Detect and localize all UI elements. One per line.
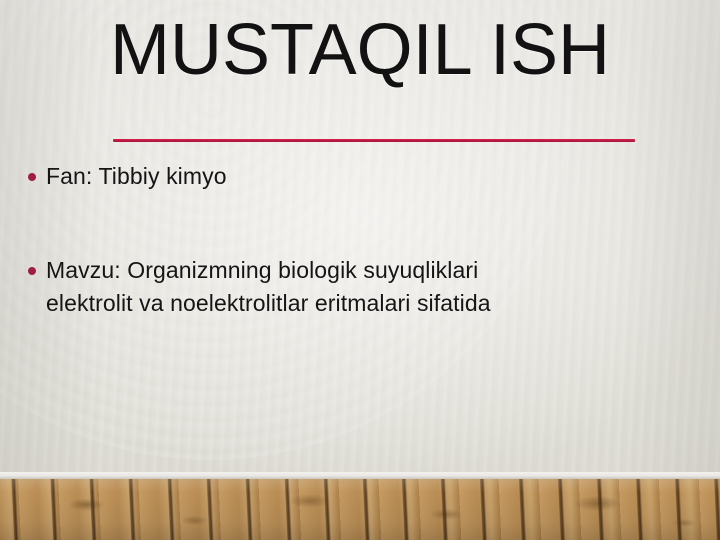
presentation-slide: MUSTAQIL ISH Fan: Tibbiy kimyo Mavzu: Or… <box>0 0 720 540</box>
bullet-text-subject: Fan: Tibbiy kimyo <box>46 160 700 193</box>
floor-planks <box>0 479 720 540</box>
bullet-text-topic: Mavzu: Organizmning biologik suyuqliklar… <box>46 254 700 320</box>
bullet-item-topic: Mavzu: Organizmning biologik suyuqliklar… <box>28 254 700 320</box>
baseboard-strip <box>0 472 720 479</box>
bullet-dot-icon <box>28 173 36 181</box>
bullet-dot-icon <box>28 267 36 275</box>
bullet-text-topic-line-1: Mavzu: Organizmning biologik suyuqliklar… <box>46 254 700 287</box>
slide-body: Fan: Tibbiy kimyo Mavzu: Organizmning bi… <box>28 160 700 320</box>
title-divider-rule <box>113 139 635 142</box>
wooden-floor <box>0 479 720 540</box>
bullet-spacer <box>28 193 700 254</box>
bullet-item-subject: Fan: Tibbiy kimyo <box>28 160 700 193</box>
bullet-text-topic-line-2: elektrolit va noelektrolitlar eritmalari… <box>46 287 700 320</box>
slide-title: MUSTAQIL ISH <box>0 11 720 89</box>
